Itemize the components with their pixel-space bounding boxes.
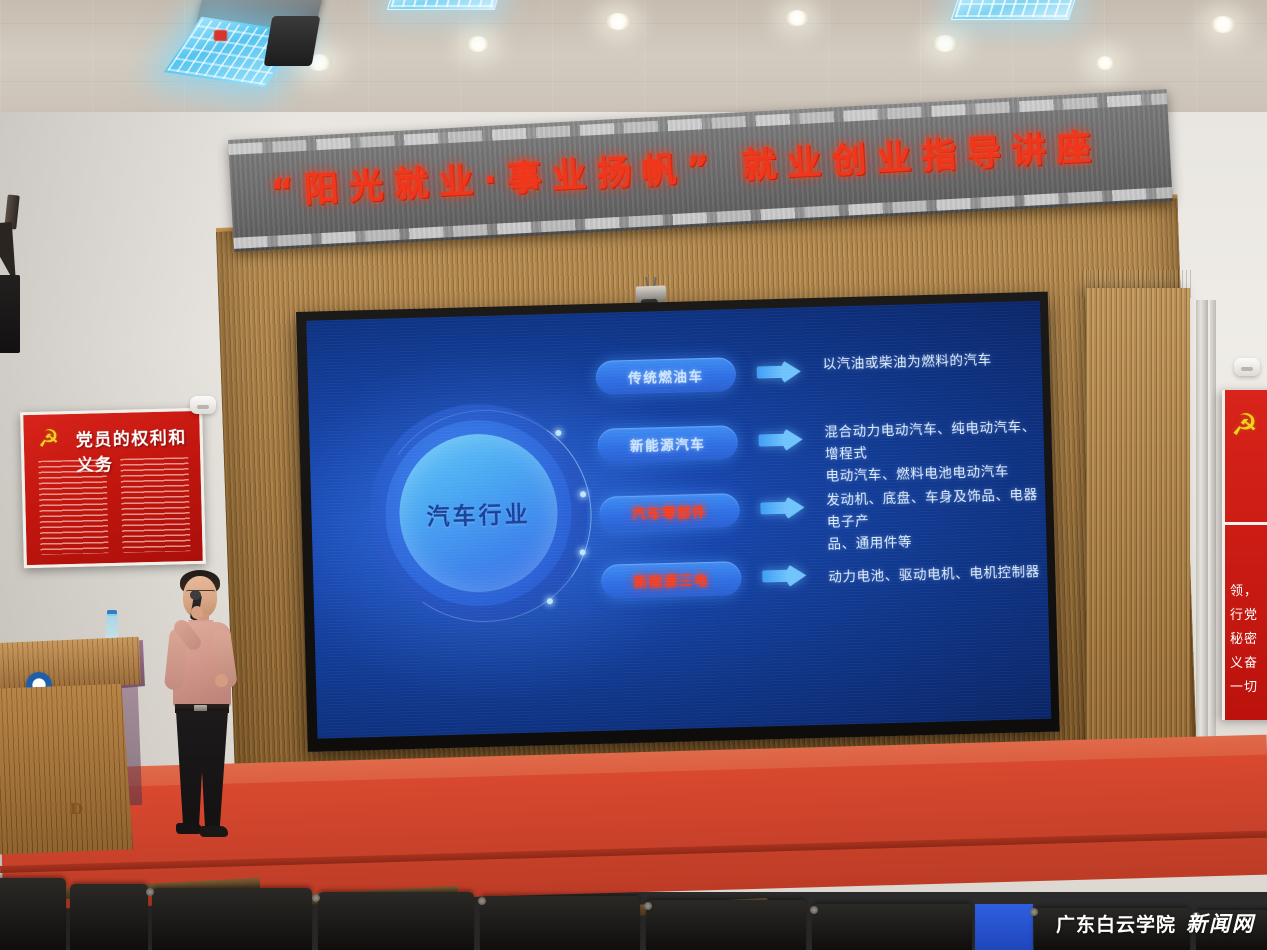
slide-row-label: 传统燃油车 [628, 365, 704, 387]
poster-text-column [38, 459, 108, 555]
stage-light-indicator [214, 30, 227, 41]
slide-row-pill: 新能源三电 [601, 561, 742, 599]
seat-bolt [810, 906, 818, 914]
seat-gap-light [975, 904, 1033, 950]
arrow-head [782, 426, 803, 453]
watermark-institution: 广东白云学院 [1056, 910, 1176, 937]
seat-bolt [1030, 908, 1038, 916]
arrow-right-icon [758, 426, 803, 453]
arrow-head [784, 494, 805, 521]
wall-channel [1210, 300, 1216, 770]
wood-pillar [1086, 288, 1190, 808]
seat-bolt [312, 894, 320, 902]
led-screen-bezel: 汽车行业 传统燃油车 以汽油或柴油为燃料的汽 [296, 292, 1060, 752]
slide-row-label: 新能源三电 [633, 569, 709, 591]
presenter-shoe [200, 826, 228, 837]
right-banner-poster: ☭ 领， 行党 秘密 义奋 一切 [1222, 390, 1267, 720]
slide-center-circle: 汽车行业 [367, 401, 591, 625]
hammer-sickle-icon: ☭ [1231, 408, 1258, 443]
arrow-shaft [762, 570, 788, 583]
party-rights-poster: ☭ 党员的权利和义务 [20, 408, 206, 568]
arrow-right-icon [756, 358, 801, 385]
slide-row-label: 新能源汽车 [630, 433, 706, 455]
slide-row-description: 混合动力电动汽车、纯电动汽车、增程式 电动汽车、燃料电池电动汽车 [824, 417, 1051, 489]
auditorium-photo: “阳光就业·事业扬帆” 就业创业指导讲座 汽车行业 [0, 0, 1267, 950]
poster-text-column [120, 457, 190, 553]
ceiling-downlight [466, 36, 490, 52]
poster-divider [1225, 522, 1267, 525]
lectern: D [0, 640, 140, 852]
microphone-head [190, 590, 201, 600]
hammer-sickle-icon: ☭ [38, 427, 67, 452]
lectern-logo: D [70, 800, 84, 818]
slide-row: 新能源汽车 混合动力电动汽车、纯电动汽车、增程式 电动汽车、燃料电池电动汽车 [597, 417, 1050, 481]
ceiling-downlight [605, 13, 631, 30]
seat[interactable] [480, 896, 640, 950]
seat[interactable] [70, 884, 148, 950]
arrow-shaft [757, 366, 783, 379]
slide-row: 汽车零部件 发动机、底盘、车身及饰品、电器电子产 品、通用件等 [599, 485, 1051, 549]
slide-row-pill: 新能源汽车 [597, 425, 738, 463]
smoke-detector-icon [190, 396, 216, 414]
seat-bolt [644, 902, 652, 910]
arrow-shaft [758, 434, 784, 447]
seat[interactable] [812, 904, 972, 950]
seat[interactable] [318, 892, 474, 950]
slide-row: 传统燃油车 以汽油或柴油为燃料的汽车 [595, 349, 1048, 413]
slide-row-pill: 汽车零部件 [599, 493, 740, 531]
ceiling-panel-light [951, 0, 1077, 20]
seat[interactable] [0, 878, 66, 950]
arc-node-dot [555, 430, 561, 436]
belt-buckle [194, 705, 207, 712]
presenter-hand [191, 606, 203, 619]
ceiling-downlight [932, 35, 958, 52]
arrow-head [780, 358, 801, 385]
watermark: 广东白云学院 新闻网 [1056, 908, 1255, 938]
presenter-shoe [176, 823, 202, 834]
arc-node-dot [547, 598, 553, 604]
slide-row-description: 以汽油或柴油为燃料的汽车 [822, 350, 992, 376]
lectern-top [0, 637, 141, 692]
watermark-site: 新闻网 [1186, 908, 1255, 938]
slide-row-label: 汽车零部件 [632, 501, 708, 523]
smoke-detector-icon [1234, 358, 1260, 376]
arrow-head [786, 562, 807, 589]
presenter [155, 570, 251, 850]
ceiling-downlight [785, 10, 809, 26]
arrow-right-icon [760, 494, 805, 521]
slide-row-description: 动力电池、驱动电机、电机控制器 [828, 562, 1040, 590]
lectern-body [0, 683, 133, 854]
arrow-right-icon [762, 562, 807, 589]
arrow-shaft [760, 502, 786, 515]
ceiling-panel-light [387, 0, 501, 10]
panel-light-cells [955, 0, 1073, 17]
decorative-arc [361, 394, 607, 639]
stage-light-housing [264, 16, 321, 66]
presentation-screen: 汽车行业 传统燃油车 以汽油或柴油为燃料的汽 [306, 301, 1051, 739]
presenter-legs [176, 711, 228, 829]
slide-row-pill: 传统燃油车 [595, 357, 736, 395]
poster-body-columns [38, 457, 190, 555]
arc-node-dot [580, 549, 586, 555]
seat-bolt [146, 888, 154, 896]
presenter-hand [215, 674, 228, 687]
ceiling-downlight [1095, 56, 1115, 70]
slide-rows: 传统燃油车 以汽油或柴油为燃料的汽车 新能源汽车 [595, 349, 1051, 711]
wall-speaker-bracket [0, 195, 56, 345]
panel-light-cells [391, 0, 498, 7]
slide-row-description: 发动机、底盘、车身及饰品、电器电子产 品、通用件等 [826, 485, 1051, 557]
seat[interactable] [152, 888, 312, 950]
ceiling-downlight [1210, 16, 1236, 33]
seat[interactable] [646, 900, 806, 950]
seat-bolt [478, 897, 486, 905]
poster-text: 领， 行党 秘密 义奋 一切 [1230, 580, 1267, 700]
wall-channel [1196, 300, 1208, 770]
slide-row: 新能源三电 动力电池、驱动电机、电机控制器 [601, 553, 1051, 617]
speaker-cabinet [0, 275, 20, 353]
